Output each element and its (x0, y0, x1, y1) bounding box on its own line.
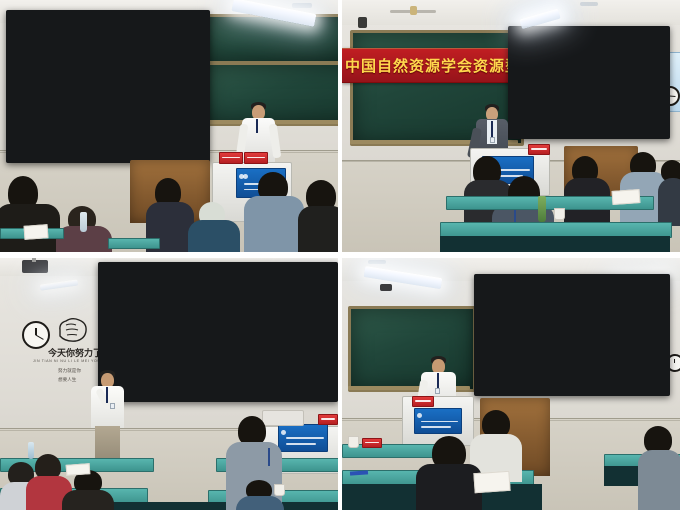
placard-text-line (531, 148, 547, 149)
speaker-person (88, 370, 128, 460)
speaker-badge (435, 388, 440, 394)
fan-motor (410, 6, 417, 15)
decal-subline-2: 想要人生 (58, 377, 76, 383)
photo-panel-top-right[interactable]: 中国自然资源学会资源型 我国资源型城市转型发展的政策演进 2001年，国务院有关… (342, 0, 680, 252)
name-placard (362, 438, 382, 448)
photo-panel-bottom-left[interactable]: 今天你努力了没有!? JIN TIAN NI NU LI LE MEI YOU … (0, 258, 338, 510)
speaker-lanyard (256, 119, 258, 133)
emblem-icon (417, 413, 422, 418)
lamp-mount (580, 2, 598, 6)
paper-sheet (473, 471, 510, 493)
projection-screen-frame: 机理 机理 与对策 ——资源（能源）是重中之重的问题 ——中国的变化是一个结构化… (474, 274, 670, 396)
clock-minute-hand (669, 96, 675, 98)
decal-subline-1: 努力就是你 (58, 368, 81, 374)
ceiling-projector (380, 284, 392, 291)
audience-member (638, 426, 680, 510)
speaker-lanyard (491, 121, 493, 138)
desk-shadow (440, 236, 670, 252)
speaker-badge (110, 403, 115, 409)
audience-shoulders (658, 178, 680, 226)
paper-sheet (66, 463, 91, 476)
projection-screen-frame: 我国资源型城市转型发展的政策演进 2001年，国务院有关部门启动全国资源枯竭型城… (508, 26, 670, 139)
audience-member (188, 202, 240, 252)
audience-shoulders (638, 450, 680, 510)
name-placard (528, 144, 550, 155)
placard-text-line (247, 157, 265, 158)
water-bottle (28, 442, 34, 459)
speaker-lanyard (437, 373, 439, 389)
placard-text-line (222, 157, 240, 158)
audience-shoulders (236, 496, 284, 510)
student-desk (108, 238, 160, 249)
sign-text-line (421, 426, 450, 428)
podium-sign (278, 424, 328, 452)
photo-panel-top-left[interactable]: 成立目的 服务社会 为国家矿产资源安全提供战略支撑 为资源型产业转型升级提供咨询… (0, 0, 338, 252)
speaker-lanyard (106, 387, 108, 403)
fan-blade (390, 10, 412, 13)
speaker-trousers (95, 426, 120, 460)
audience-shoulders (416, 464, 482, 510)
audience-member (0, 176, 60, 252)
name-placard (244, 152, 268, 164)
clock-minute-hand (35, 334, 43, 340)
audience-shoulders (188, 220, 240, 252)
sign-text-line (286, 437, 324, 439)
clock-hour-hand (674, 359, 675, 363)
audience-shoulders (298, 206, 338, 252)
paper-cup (348, 436, 359, 448)
audience-shoulders (244, 196, 304, 252)
name-placard (412, 396, 434, 407)
placard-text-line (365, 442, 379, 443)
water-bottle (538, 196, 546, 222)
audience-member (658, 160, 680, 226)
photo-montage-grid: 成立目的 服务社会 为国家矿产资源安全提供战略支撑 为资源型产业转型升级提供咨询… (0, 0, 680, 510)
decal-pinyin: JIN TIAN NI NU LI LE MEI YOU (33, 359, 101, 363)
audience-member (564, 156, 610, 232)
name-placard (318, 414, 338, 425)
projection-screen-frame: 目录 CONTENTS ❯ 01 珠穆朗玛峰国家公园的旅游资源 The Tour… (98, 262, 338, 402)
sign-text-line (286, 443, 317, 445)
speaker-badge (490, 137, 495, 143)
placard-text-line (415, 400, 431, 401)
water-bottle (80, 212, 87, 232)
projector-mount (32, 258, 36, 262)
paper-cup (274, 484, 285, 496)
ceiling-fan (390, 6, 436, 16)
podium-sign (414, 408, 462, 434)
paper-sheet (612, 189, 641, 205)
sign-text-line (421, 421, 458, 423)
paper-sheet (24, 224, 49, 240)
audience-shoulders (62, 490, 114, 510)
fist-icon (56, 314, 90, 344)
banner-text: 中国自然资源学会资源型 (342, 55, 521, 76)
audience-lanyard (268, 448, 270, 466)
audience-member (244, 172, 304, 252)
wall-clock (22, 321, 50, 349)
lamp-mount (368, 260, 386, 264)
chalkboard-upper (205, 14, 338, 64)
photo-panel-bottom-right[interactable]: 机理 机理 与对策 ——资源（能源）是重中之重的问题 ——中国的变化是一个结构化… (342, 258, 680, 510)
audience-member (416, 436, 482, 510)
audience-member (298, 180, 338, 252)
placard-text-line (321, 418, 335, 419)
paper-cup (554, 208, 565, 220)
audience-member (62, 470, 114, 510)
conference-banner: 中国自然资源学会资源型 (342, 48, 524, 83)
fan-blade (414, 10, 436, 13)
projection-screen-frame: 成立目的 服务社会 为国家矿产资源安全提供战略支撑 为资源型产业转型升级提供咨询… (6, 10, 210, 163)
fist-svg (56, 314, 90, 344)
wall-speaker (358, 17, 367, 28)
lamp-mount (292, 3, 312, 8)
name-placard (219, 152, 243, 164)
